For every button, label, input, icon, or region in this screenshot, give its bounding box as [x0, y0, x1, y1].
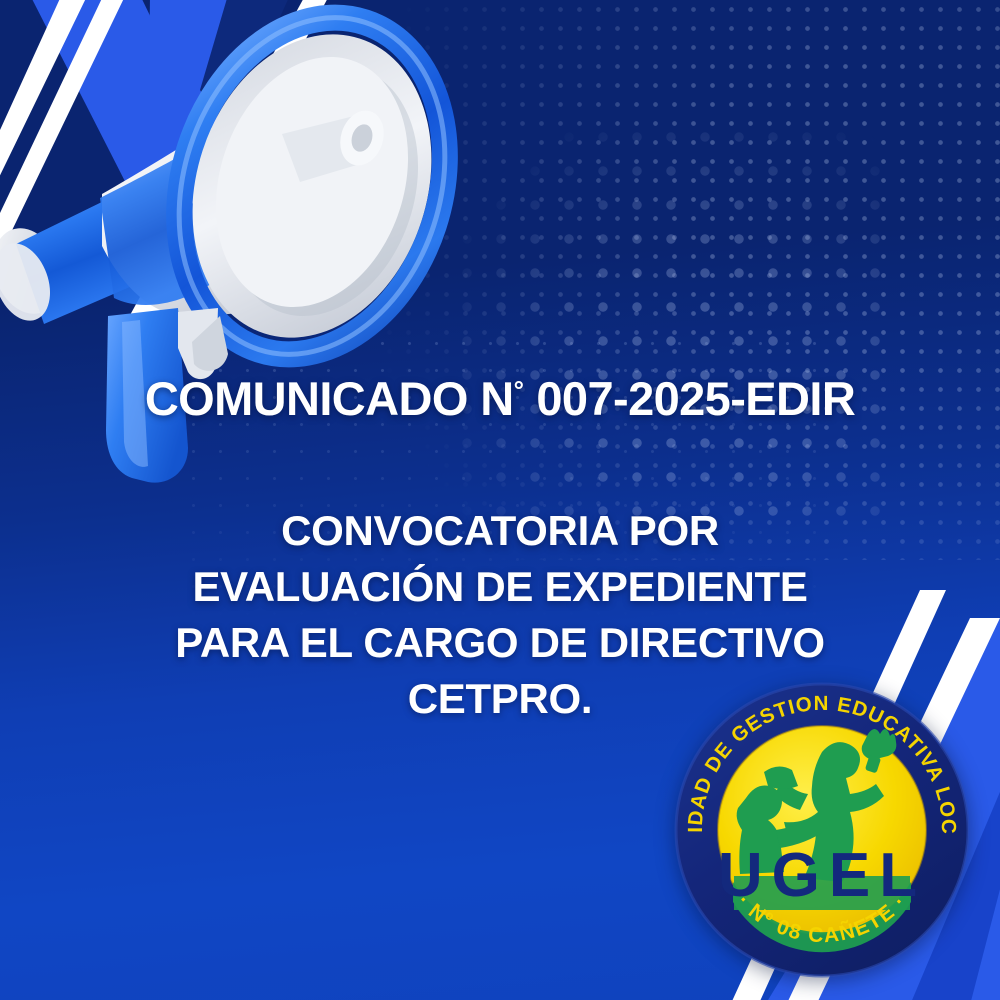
- body-line-1: CONVOCATORIA POR: [60, 503, 940, 559]
- body-line-2: EVALUACIÓN DE EXPEDIENTE: [60, 559, 940, 615]
- degree-symbol: °: [514, 377, 524, 405]
- corner-decoration-top-left: [0, 0, 330, 330]
- megaphone-icon: [0, 0, 502, 506]
- body-line-3: PARA EL CARGO DE DIRECTIVO: [60, 615, 940, 671]
- headline-number: 007-2025-EDIR: [524, 372, 855, 425]
- headline-prefix: COMUNICADO N: [145, 372, 514, 425]
- page-title: COMUNICADO N° 007-2025-EDIR: [0, 374, 1000, 423]
- ugel-logo: UGEL UNIDAD DE GESTION EDUCATIVA LOCAL ·…: [672, 680, 972, 980]
- poster-canvas: COMUNICADO N° 007-2025-EDIR CONVOCATORIA…: [0, 0, 1000, 1000]
- halftone-dot-pattern: [380, 0, 1000, 560]
- halftone-dot-pattern-large: [450, 120, 880, 540]
